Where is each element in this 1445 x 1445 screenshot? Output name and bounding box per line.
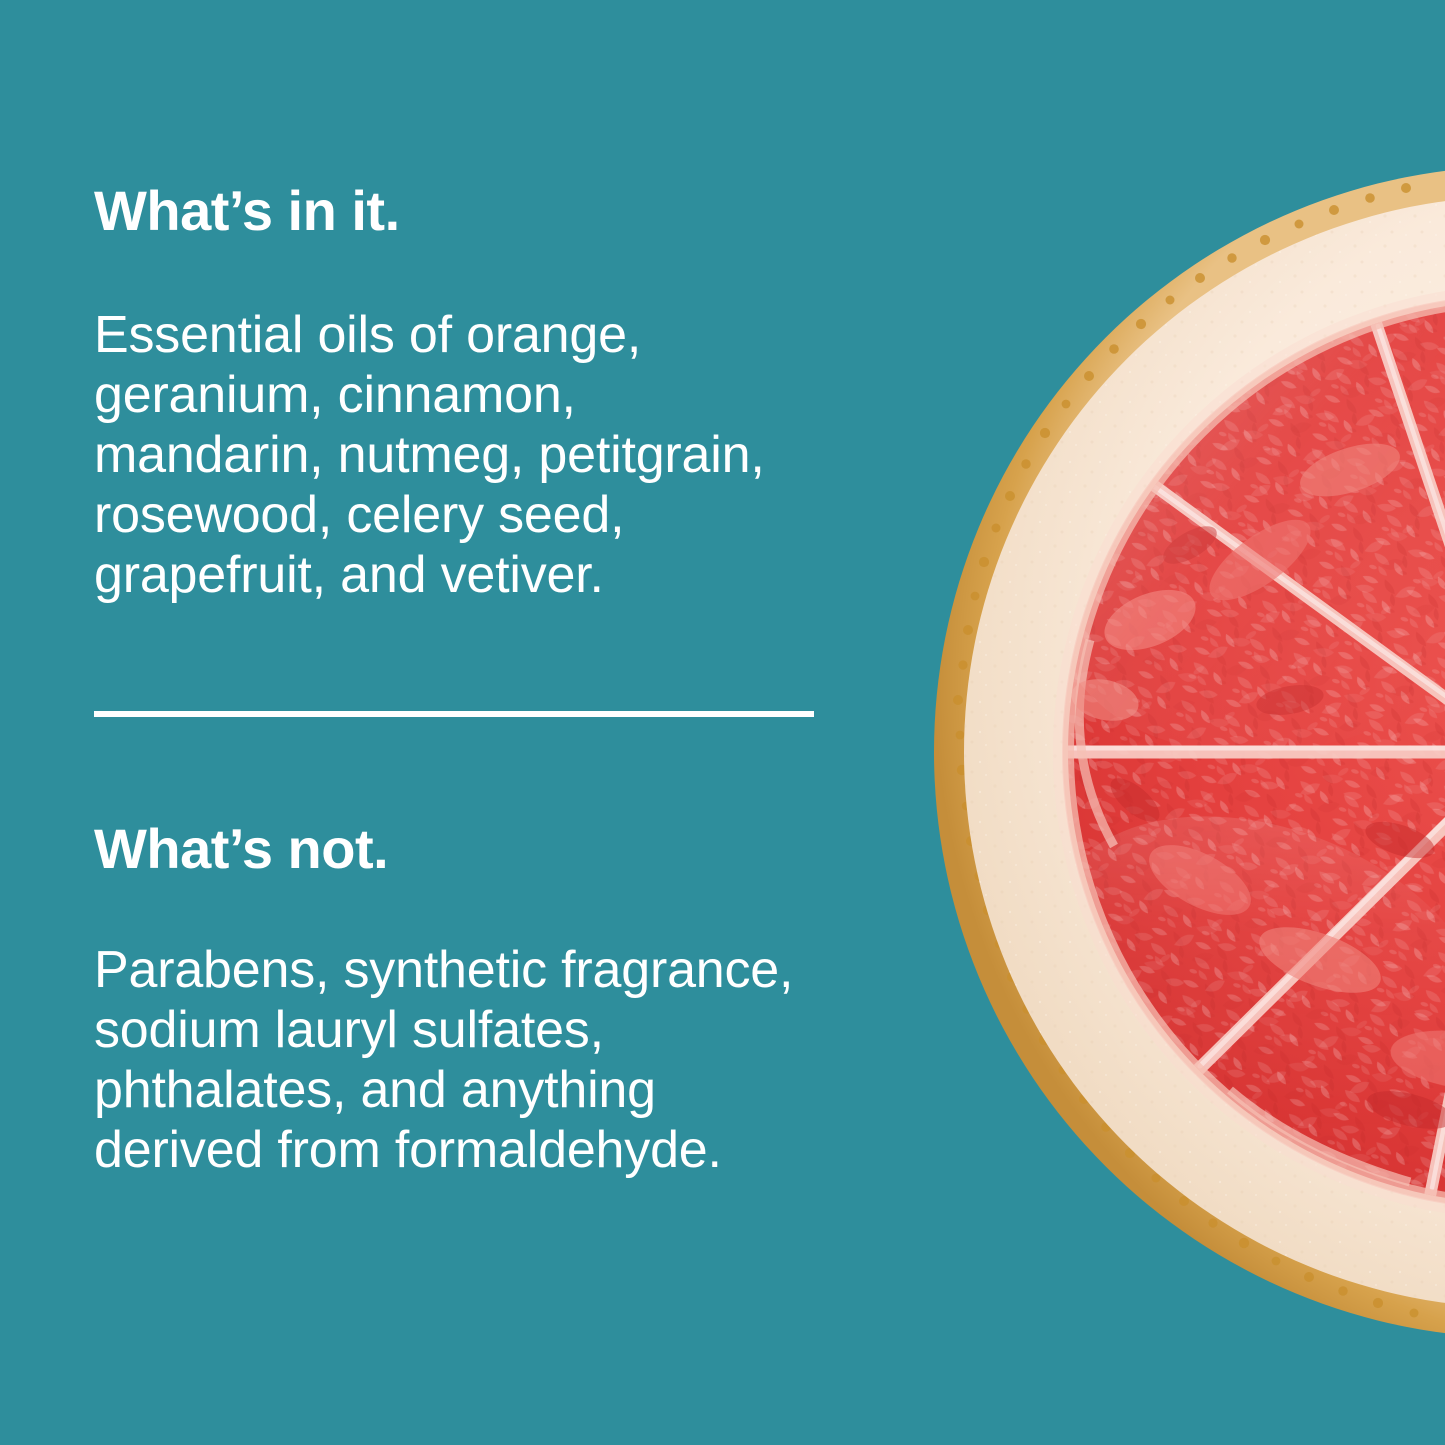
product-ingredient-panel: What’s in it. Essential oils of orange, …	[0, 0, 1445, 1445]
ingredient-line: geranium, cinnamon,	[94, 365, 974, 425]
section-divider	[94, 711, 814, 717]
whats-not-heading: What’s not.	[94, 818, 388, 880]
ingredient-line: rosewood, celery seed,	[94, 485, 974, 545]
grapefruit-pith	[964, 196, 1445, 1308]
excluded-line: Parabens, synthetic fragrance,	[94, 940, 994, 1000]
grapefruit-rind	[934, 166, 1445, 1338]
excluded-line: sodium lauryl sulfates,	[94, 1000, 994, 1060]
rind-pores	[953, 183, 1419, 1318]
copy-column: What’s in it. Essential oils of orange, …	[94, 0, 974, 1445]
whats-not-body: Parabens, synthetic fragrance, sodium la…	[94, 940, 994, 1180]
whats-in-it-body: Essential oils of orange, geranium, cinn…	[94, 305, 974, 605]
ingredient-line: grapefruit, and vetiver.	[94, 545, 974, 605]
ingredient-line: mandarin, nutmeg, petitgrain,	[94, 425, 974, 485]
ingredient-line: Essential oils of orange,	[94, 305, 974, 365]
whats-in-it-heading: What’s in it.	[94, 180, 400, 242]
segment-membranes	[1063, 320, 1445, 1196]
excluded-line: derived from formaldehyde.	[94, 1120, 994, 1180]
grapefruit-flesh	[1068, 300, 1445, 1204]
excluded-line: phthalates, and anything	[94, 1060, 994, 1120]
